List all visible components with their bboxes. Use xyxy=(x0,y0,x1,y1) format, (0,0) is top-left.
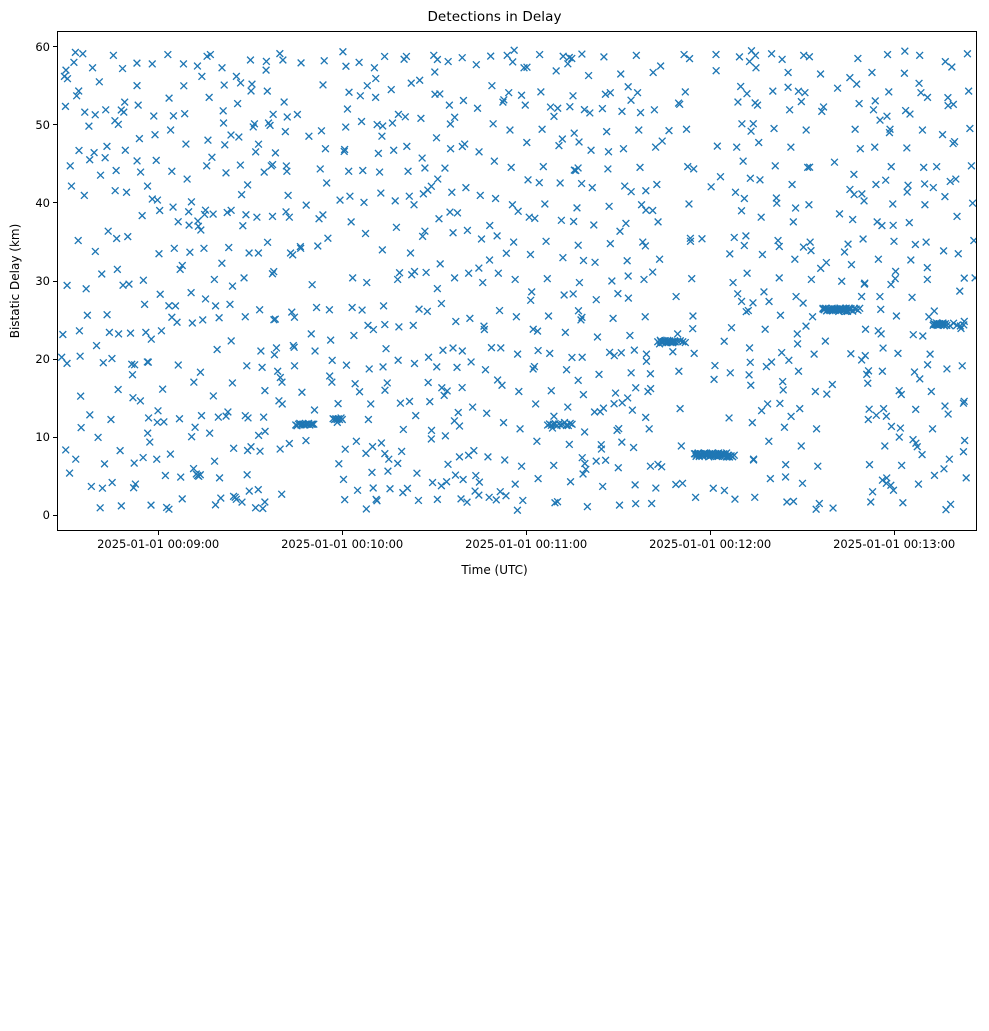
y-tick-mark xyxy=(53,515,57,516)
x-tick-mark xyxy=(342,531,343,535)
scatter-points xyxy=(58,47,976,514)
y-axis-label: Bistatic Delay (km) xyxy=(8,31,24,531)
y-tick-mark xyxy=(53,359,57,360)
x-tick-label: 2025-01-01 00:11:00 xyxy=(436,537,616,551)
y-axis-label-wrap: Bistatic Delay (km) xyxy=(8,531,24,1031)
x-tick-mark xyxy=(158,531,159,535)
chart-title: Detections in Delay xyxy=(0,9,989,25)
x-tick-label: 2025-01-01 00:09:00 xyxy=(68,537,248,551)
y-tick-marks xyxy=(53,31,58,531)
plot-area[interactable] xyxy=(57,31,977,531)
y-tick-mark xyxy=(53,46,57,47)
y-tick-mark xyxy=(53,281,57,282)
y-tick-mark xyxy=(53,202,57,203)
scatter-layer xyxy=(58,32,976,530)
x-tick-mark xyxy=(526,531,527,535)
x-tick-mark xyxy=(894,531,895,535)
y-tick-mark xyxy=(53,124,57,125)
y-tick-mark xyxy=(53,437,57,438)
x-tick-label: 2025-01-01 00:13:00 xyxy=(804,537,984,551)
figure-canvas: Detections in Delay 0102030405060 Bistat… xyxy=(0,0,989,590)
x-axis-label: Time (UTC) xyxy=(0,563,989,577)
x-tick-mark xyxy=(710,531,711,535)
x-tick-label: 2025-01-01 00:12:00 xyxy=(620,537,800,551)
x-tick-label: 2025-01-01 00:10:00 xyxy=(252,537,432,551)
